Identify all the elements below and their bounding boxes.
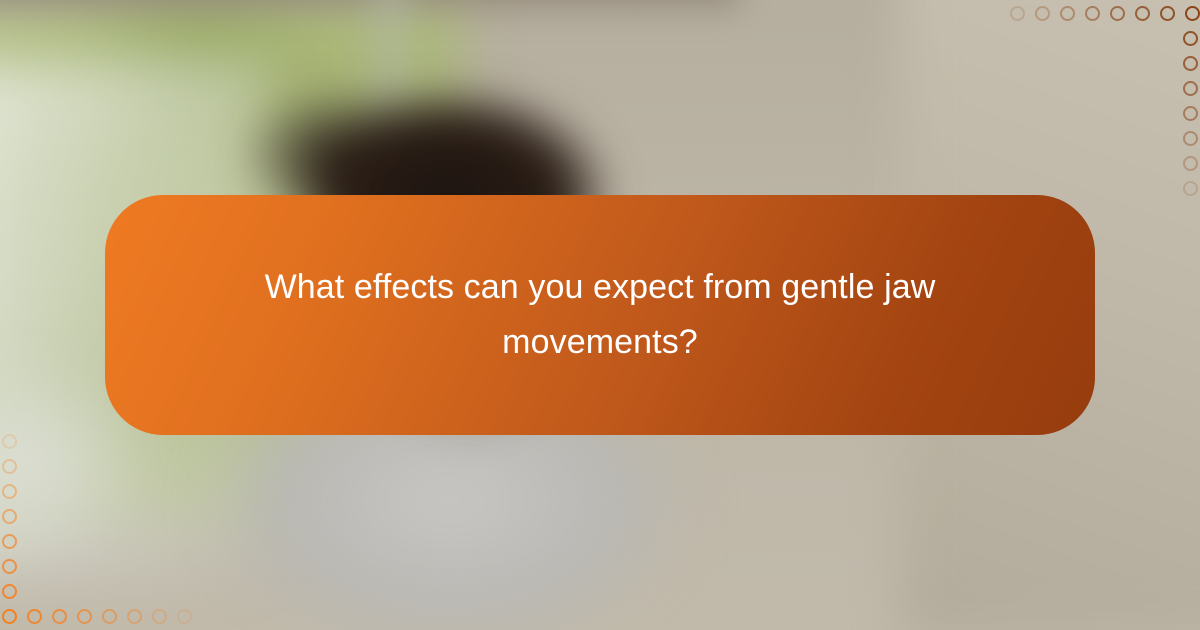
circle-outline-icon	[1185, 6, 1200, 21]
question-card: What effects can you expect from gentle …	[105, 195, 1095, 435]
circle-outline-icon	[2, 459, 17, 474]
circle-outline-icon	[1135, 6, 1150, 21]
circle-outline-icon	[1060, 6, 1075, 21]
circle-outline-icon	[1183, 31, 1198, 46]
circle-outline-icon	[2, 534, 17, 549]
circle-outline-icon	[1183, 131, 1198, 146]
circle-outline-icon	[1183, 181, 1198, 196]
circle-outline-icon	[1035, 6, 1050, 21]
circle-outline-icon	[102, 609, 117, 624]
circle-outline-icon	[1085, 6, 1100, 21]
circle-outline-icon	[1183, 56, 1198, 71]
circle-outline-icon	[2, 609, 17, 624]
circle-outline-icon	[177, 609, 192, 624]
circle-outline-icon	[1010, 6, 1025, 21]
circle-outline-icon	[1183, 106, 1198, 121]
circle-outline-icon	[2, 509, 17, 524]
circle-outline-icon	[52, 609, 67, 624]
circle-outline-icon	[2, 584, 17, 599]
circle-outline-icon	[152, 609, 167, 624]
circle-outline-icon	[1110, 6, 1125, 21]
decorative-dots-bottom-left	[0, 440, 190, 630]
poster-canvas: What effects can you expect from gentle …	[0, 0, 1200, 630]
circle-outline-icon	[127, 609, 142, 624]
circle-outline-icon	[1183, 156, 1198, 171]
circle-outline-icon	[1183, 81, 1198, 96]
question-text: What effects can you expect from gentle …	[195, 260, 1005, 370]
circle-outline-icon	[77, 609, 92, 624]
circle-outline-icon	[2, 484, 17, 499]
decorative-dots-top-right	[1010, 0, 1200, 190]
circle-outline-icon	[2, 559, 17, 574]
circle-outline-icon	[27, 609, 42, 624]
circle-outline-icon	[2, 434, 17, 449]
circle-outline-icon	[1160, 6, 1175, 21]
